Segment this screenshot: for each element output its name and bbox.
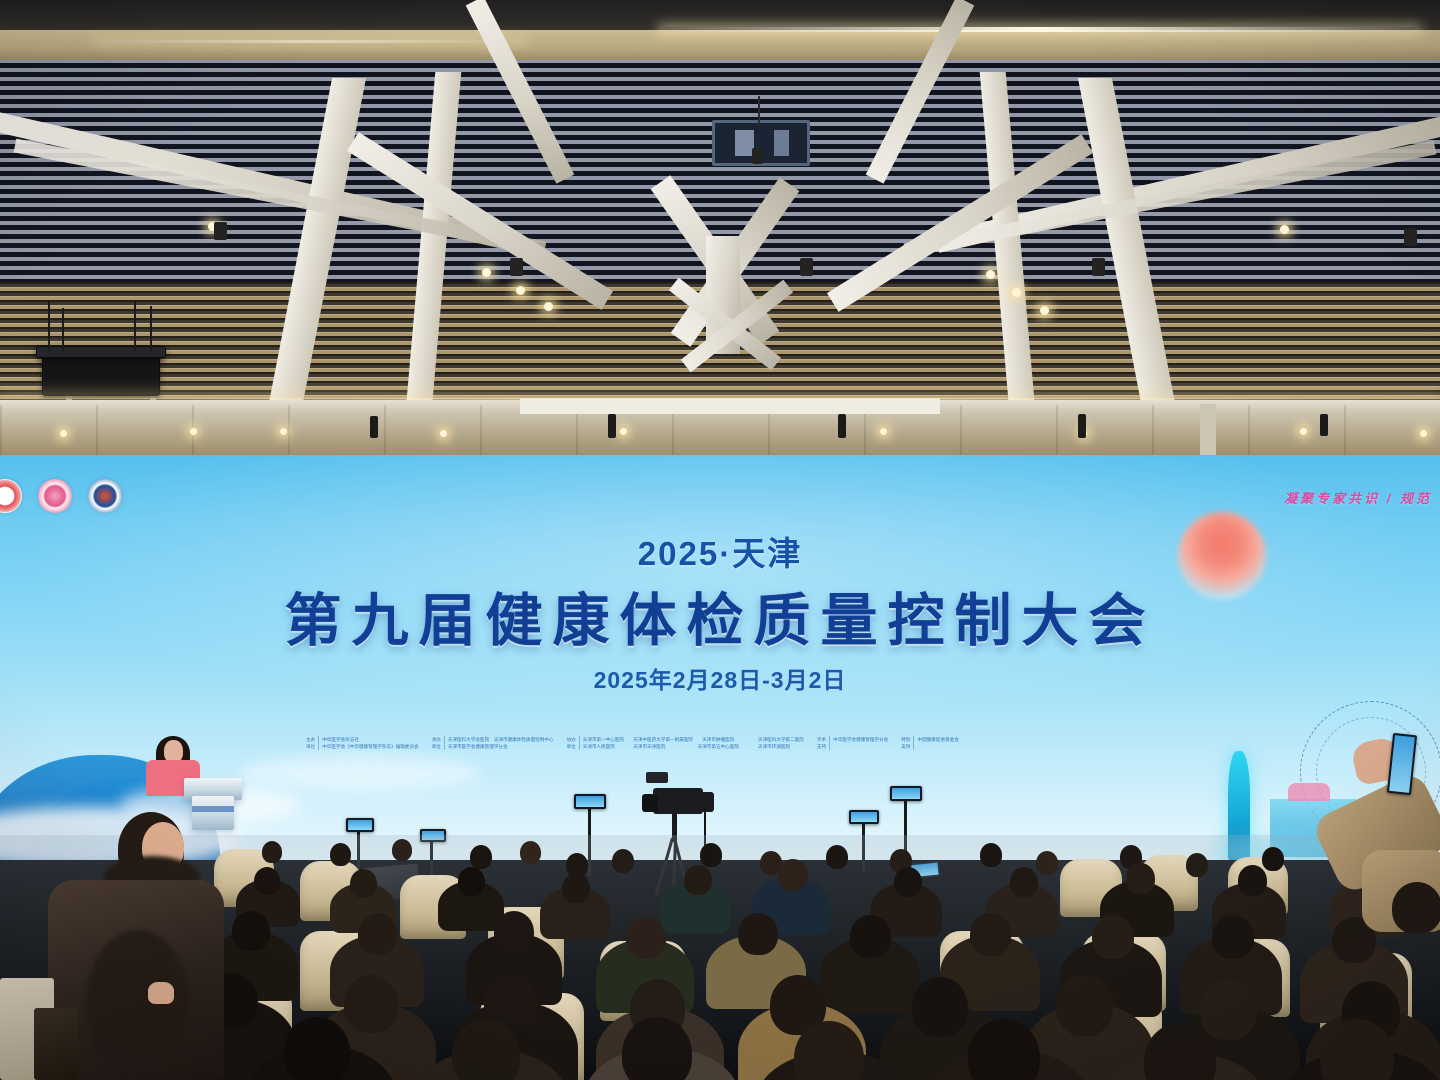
- audience-head: [344, 975, 398, 1033]
- audience-head: [912, 977, 968, 1037]
- audience-head: [1186, 853, 1208, 877]
- pendant-downlight-icon: [214, 222, 227, 240]
- recessed-spotlight-icon: [620, 428, 627, 435]
- audience-head: [284, 1017, 350, 1080]
- recessed-spotlight-icon: [1300, 428, 1307, 435]
- audience-head: [350, 869, 377, 898]
- pendant-downlight-icon: [510, 258, 523, 276]
- logo-pink-emblem-icon: [38, 479, 72, 513]
- pendant-cable: [758, 96, 760, 126]
- recessed-spotlight-icon: [544, 302, 553, 311]
- credit-label: 特别 支持: [901, 736, 914, 750]
- credit-block: 主办 单位 中华医学会杂志社 中华医学会《中华健康管理学杂志》编辑委员会: [306, 736, 419, 750]
- recessed-spotlight-icon: [482, 268, 491, 277]
- lectern-body: [192, 796, 234, 830]
- audience-head: [894, 867, 922, 897]
- audience-head: [626, 917, 666, 959]
- recessed-spotlight-icon: [190, 428, 197, 435]
- coat-fur-placket: [86, 930, 190, 1078]
- credit-value: 中华医学会健康管理学分会: [833, 736, 888, 743]
- credit-block: 天津医科大学第二医院 天津市环湖医院: [752, 736, 804, 750]
- lectern-sign-band: [192, 806, 234, 812]
- audience-head: [458, 867, 485, 896]
- credits-row: 主办 单位 中华医学会杂志社 中华医学会《中华健康管理学杂志》编辑委员会 承办 …: [306, 736, 972, 750]
- wall-pilaster: [1200, 404, 1216, 462]
- audience-head: [392, 839, 412, 861]
- credit-value: 天津市第一中心医院 天津中医药大学第一附属医院 天津市肿瘤医院 天津市人民医院 …: [583, 736, 739, 750]
- cloud-graphic: [240, 755, 480, 791]
- audience-head: [850, 915, 891, 958]
- recessed-spotlight-icon: [516, 286, 525, 295]
- ceiling-projector-icon: [36, 346, 166, 358]
- pendant-downlight-icon: [800, 258, 813, 276]
- audience-head: [700, 843, 722, 867]
- recessed-spotlight-icon: [60, 430, 67, 437]
- pendant-downlight-icon: [1404, 228, 1417, 246]
- credit-value: 天津医科大学第二医院 天津市环湖医院: [758, 736, 804, 750]
- logo-partial-left-icon: [0, 479, 22, 513]
- logo-blue-red-emblem-icon: [88, 479, 122, 513]
- foreground-woman-hand: [148, 982, 174, 1004]
- phone-on-monopod-3-icon[interactable]: [574, 794, 606, 809]
- audience-head: [1056, 975, 1113, 1036]
- recessed-spotlight-icon: [1012, 288, 1021, 297]
- audience-head: [232, 911, 270, 951]
- banner-year-line: 2025·天津: [0, 527, 1440, 575]
- credit-label: 承办 单位: [432, 736, 445, 750]
- audience-head: [970, 913, 1011, 956]
- linear-light-bar-icon: [95, 40, 525, 43]
- attendee-head: [1392, 882, 1440, 934]
- recessed-spotlight-icon: [880, 428, 887, 435]
- audience-head: [562, 873, 590, 903]
- audience-head: [330, 843, 351, 866]
- ceiling-region: [0, 0, 1440, 462]
- pendant-downlight-icon: [1320, 414, 1328, 436]
- audience-head: [470, 845, 492, 869]
- audience-head: [494, 911, 534, 953]
- recessed-spotlight-icon: [440, 430, 447, 437]
- organizer-logo-row: [0, 479, 122, 513]
- audience-head: [1238, 865, 1267, 896]
- credit-block: 承办 单位 天津医科大学总医院 天津市健康体检质量控制中心 天津市医学会健康管理…: [432, 736, 554, 750]
- audience-head: [1092, 915, 1134, 959]
- linear-light-bar-icon: [660, 27, 1420, 32]
- projector-cable: [150, 306, 152, 352]
- projector-cable: [48, 300, 50, 352]
- audience-head: [1212, 915, 1254, 959]
- audience-head: [1010, 867, 1038, 897]
- pendant-downlight-icon: [1092, 258, 1105, 276]
- audience-head: [358, 913, 397, 955]
- camera-viewfinder-icon: [646, 772, 668, 783]
- screenshot-root: 凝聚专家共识 / 规范 2025·天津 第九届健康体检质量控制大会 2025年2…: [0, 0, 1440, 1080]
- credit-block: 协办 单位 天津市第一中心医院 天津中医药大学第一附属医院 天津市肿瘤医院 天津…: [567, 736, 739, 750]
- ceiling-soffit: [520, 398, 940, 414]
- credit-value: 中华医学会杂志社 中华医学会《中华健康管理学杂志》编辑委员会: [322, 736, 418, 750]
- recessed-spotlight-icon: [1040, 306, 1049, 315]
- credit-value: 天津医科大学总医院 天津市健康体检质量控制中心 天津市医学会健康管理学分会: [448, 736, 554, 750]
- audience-head: [1262, 847, 1284, 871]
- credit-label: 协办 单位: [567, 736, 580, 750]
- recessed-spotlight-icon: [280, 428, 287, 435]
- audience-head: [254, 867, 280, 895]
- recessed-spotlight-icon: [1420, 430, 1427, 437]
- credit-block: 学术 支持 中华医学会健康管理学分会: [817, 736, 888, 750]
- phone-on-monopod-4-icon[interactable]: [849, 810, 879, 824]
- audience-head: [1036, 851, 1058, 875]
- recessed-spotlight-icon: [1280, 225, 1289, 234]
- banner-date-range: 2025年2月28日-3月2日: [0, 661, 1440, 695]
- calligraphy-slogan: 凝聚专家共识 / 规范: [1284, 488, 1432, 507]
- audience-head: [520, 841, 541, 864]
- pendant-downlight-icon: [608, 414, 616, 438]
- audience-head: [968, 1019, 1040, 1080]
- attendee-raising-phone-khaki-jacket: [1286, 732, 1440, 932]
- recessed-spotlight-icon: [986, 270, 995, 279]
- audience-head: [262, 841, 282, 863]
- audience-head: [1200, 979, 1257, 1040]
- pendant-downlight-icon: [370, 416, 378, 438]
- banner-title: 第九届健康体检质量控制大会: [0, 575, 1440, 657]
- phone-on-monopod-1-icon[interactable]: [346, 818, 374, 832]
- phone-on-monopod-5-icon[interactable]: [890, 786, 922, 801]
- audience-head: [1126, 863, 1155, 894]
- camera-lens-icon: [642, 794, 658, 812]
- credit-value: 中国健康促进基金会: [917, 736, 958, 743]
- pendant-downlight-icon: [838, 414, 846, 438]
- broadcast-video-camera-icon[interactable]: [653, 788, 703, 814]
- credit-label: 学术 支持: [817, 736, 830, 750]
- pendant-downlight-icon: [1078, 414, 1086, 438]
- audience-head: [826, 845, 848, 869]
- projector-cable: [62, 308, 64, 352]
- pendant-downlight-icon: [752, 148, 763, 164]
- projector-cable: [134, 300, 136, 352]
- credit-block: 特别 支持 中国健康促进基金会: [901, 736, 959, 750]
- audience-head: [778, 859, 808, 891]
- credit-label: 主办 单位: [306, 736, 319, 750]
- camera-battery: [700, 792, 714, 812]
- ceiling-top-warm-beam: [0, 30, 1440, 60]
- audience-head: [738, 913, 778, 955]
- audience-head: [980, 843, 1002, 867]
- audience-head: [684, 865, 712, 895]
- handbag: [34, 1008, 78, 1080]
- ceiling-projector-icon: [42, 352, 160, 396]
- audience-head: [612, 849, 634, 873]
